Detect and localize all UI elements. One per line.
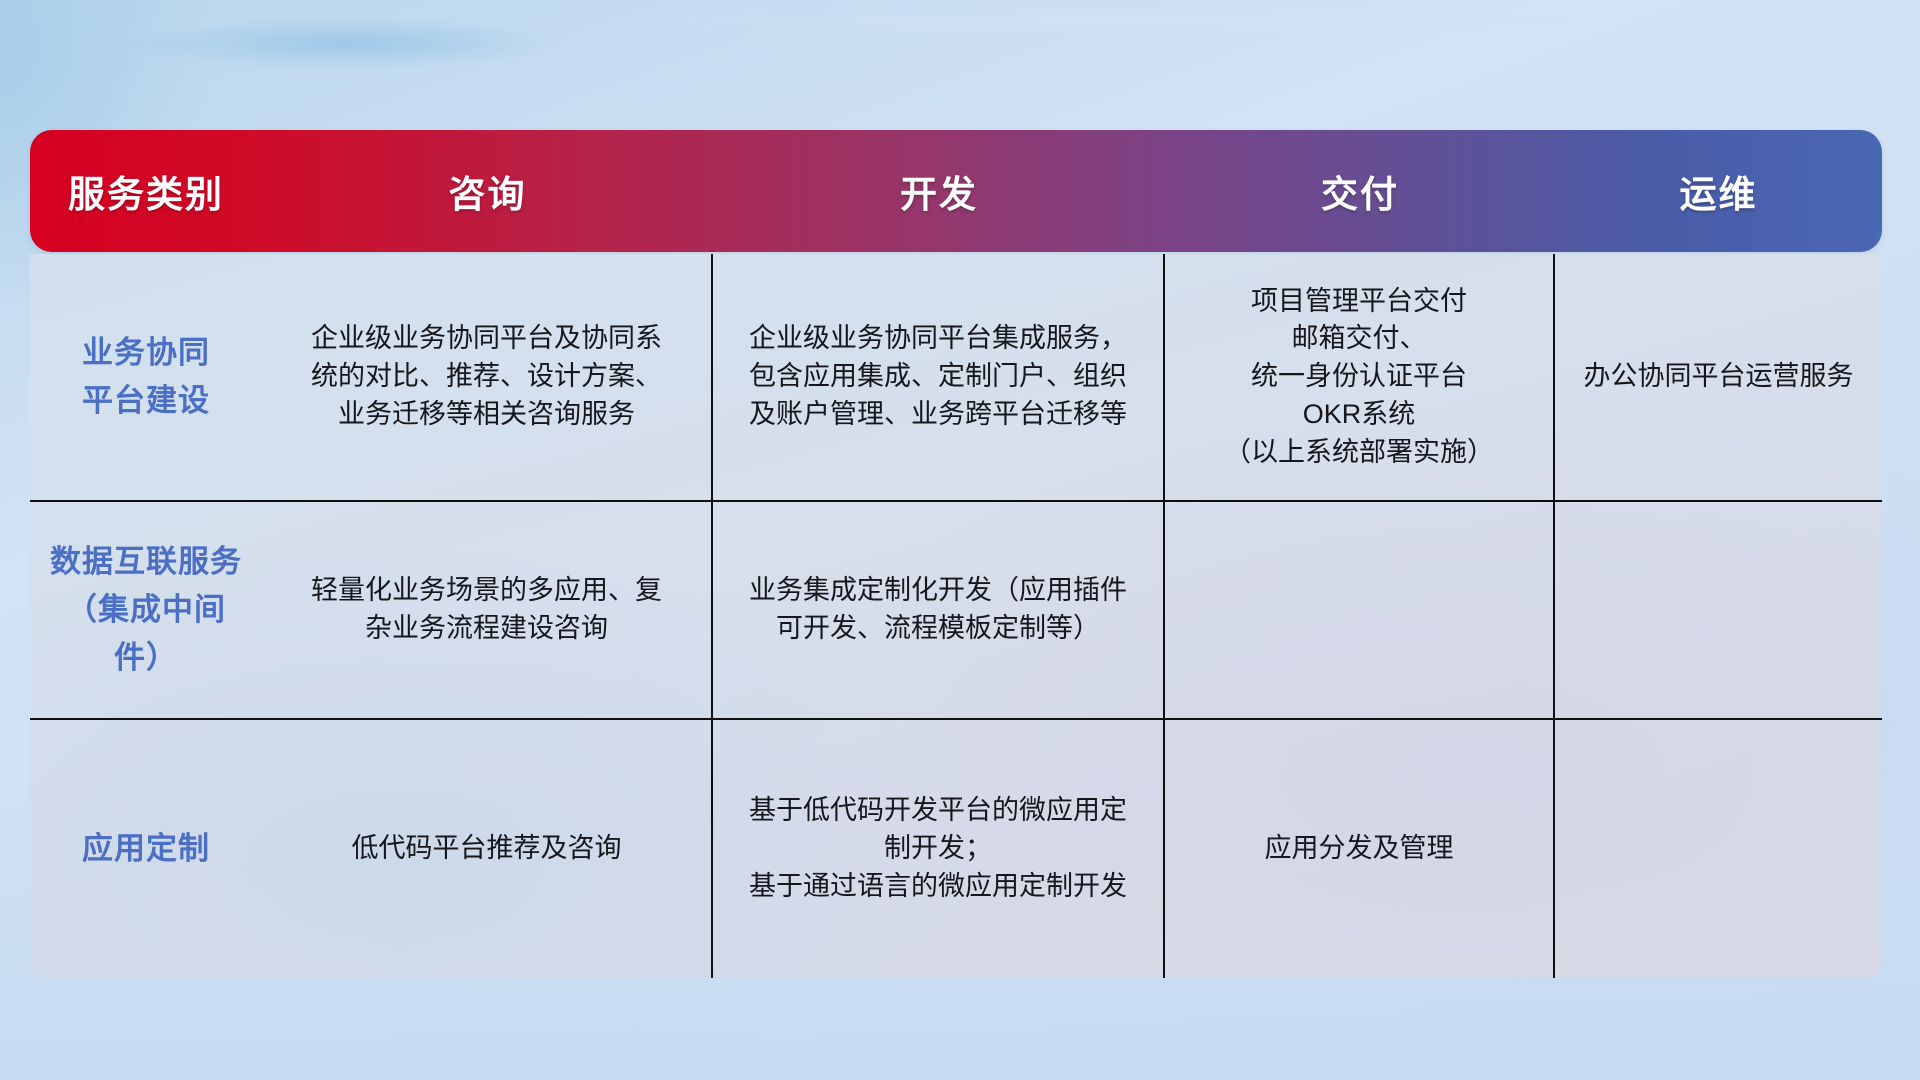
cell-operations xyxy=(1555,502,1882,718)
column-header-development: 开发 xyxy=(713,164,1165,218)
cell-operations: 办公协同平台运营服务 xyxy=(1555,254,1882,500)
column-header-consulting: 咨询 xyxy=(262,164,713,218)
cell-delivery: 项目管理平台交付 邮箱交付、 统一身份认证平台 OKR系统 （以上系统部署实施） xyxy=(1165,254,1555,500)
cell-consulting: 轻量化业务场景的多应用、复 杂业务流程建设咨询 xyxy=(262,502,713,718)
table-header-row: 服务类别 咨询 开发 交付 运维 xyxy=(30,130,1882,252)
column-header-category: 服务类别 xyxy=(30,164,262,218)
cell-delivery: 应用分发及管理 xyxy=(1165,720,1555,978)
cell-category: 应用定制 xyxy=(30,720,262,978)
cell-delivery xyxy=(1165,502,1555,718)
cell-consulting: 企业级业务协同平台及协同系 统的对比、推荐、设计方案、 业务迁移等相关咨询服务 xyxy=(262,254,713,500)
cell-category: 业务协同 平台建设 xyxy=(30,254,262,500)
service-category-table: 服务类别 咨询 开发 交付 运维 业务协同 平台建设 企业级业务协同平台及协同系… xyxy=(30,130,1882,978)
cell-consulting: 低代码平台推荐及咨询 xyxy=(262,720,713,978)
column-header-delivery: 交付 xyxy=(1165,164,1555,218)
table-row: 应用定制 低代码平台推荐及咨询 基于低代码开发平台的微应用定 制开发； 基于通过… xyxy=(30,718,1882,978)
cell-category: 数据互联服务 （集成中间件） xyxy=(30,502,262,718)
cell-development: 业务集成定制化开发（应用插件 可开发、流程模板定制等） xyxy=(713,502,1165,718)
table-row: 数据互联服务 （集成中间件） 轻量化业务场景的多应用、复 杂业务流程建设咨询 业… xyxy=(30,500,1882,718)
table-body: 业务协同 平台建设 企业级业务协同平台及协同系 统的对比、推荐、设计方案、 业务… xyxy=(30,254,1882,978)
cell-development: 基于低代码开发平台的微应用定 制开发； 基于通过语言的微应用定制开发 xyxy=(713,720,1165,978)
table-row: 业务协同 平台建设 企业级业务协同平台及协同系 统的对比、推荐、设计方案、 业务… xyxy=(30,254,1882,500)
cell-development: 企业级业务协同平台集成服务， 包含应用集成、定制门户、组织 及账户管理、业务跨平… xyxy=(713,254,1165,500)
column-header-operations: 运维 xyxy=(1555,164,1882,218)
cell-operations xyxy=(1555,720,1882,978)
